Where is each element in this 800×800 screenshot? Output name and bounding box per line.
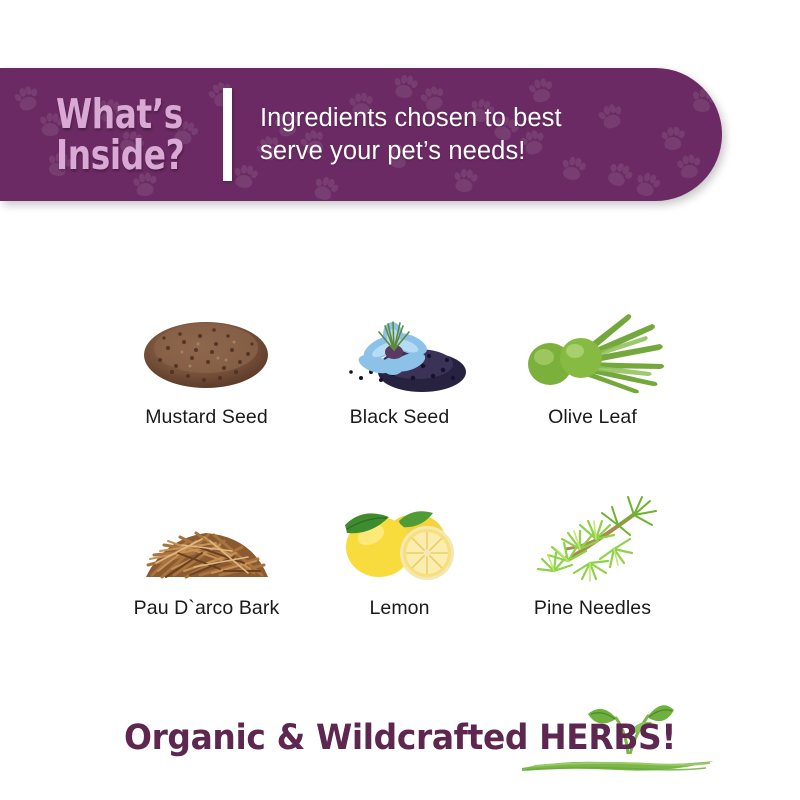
ingredient-cell-olive-leaf: Olive Leaf [496, 300, 689, 429]
banner-headline-line-2: Inside? [56, 135, 212, 175]
banner-content: What’s Inside? Ingredients chosen to bes… [0, 68, 722, 201]
pau-darco-bark-icon [124, 491, 289, 589]
banner-subheadline-line-1: Ingredients chosen to best [260, 102, 562, 135]
ingredient-label: Lemon [369, 597, 429, 620]
black-seed-icon [317, 300, 482, 398]
ingredient-row-1: Mustard Seed [110, 300, 690, 429]
ingredient-cell-mustard-seed: Mustard Seed [110, 300, 303, 429]
footer-title: Organic & Wildcrafted HERBS! [109, 718, 692, 758]
whats-inside-banner: What’s Inside? Ingredients chosen to bes… [0, 68, 722, 201]
footer-banner: Organic & Wildcrafted HERBS! [0, 700, 800, 780]
ingredient-label: Pau D`arco Bark [134, 597, 280, 620]
banner-subheadline: Ingredients chosen to best serve your pe… [260, 102, 562, 167]
banner-subheadline-line-2: serve your pet’s needs! [260, 135, 562, 168]
mustard-seed-icon [124, 300, 289, 398]
ingredient-grid: Mustard Seed [110, 300, 690, 620]
ingredient-label: Black Seed [350, 406, 450, 429]
lemon-icon [317, 491, 482, 589]
ingredient-label: Pine Needles [534, 597, 651, 620]
ingredient-cell-lemon: Lemon [303, 491, 496, 620]
olive-leaf-icon [510, 300, 675, 398]
ingredient-cell-pau-darco-bark: Pau D`arco Bark [110, 491, 303, 620]
banner-divider-rule [223, 88, 232, 181]
ingredient-label: Mustard Seed [145, 406, 268, 429]
ingredient-row-2: Pau D`arco Bark [110, 491, 690, 620]
brush-stroke-underline [520, 757, 716, 774]
banner-headline-line-1: What’s [56, 94, 212, 134]
ingredient-cell-black-seed: Black Seed [303, 300, 496, 429]
pine-needles-icon [510, 491, 675, 589]
ingredient-label: Olive Leaf [548, 406, 637, 429]
banner-headline: What’s Inside? [56, 94, 212, 174]
ingredient-cell-pine-needles: Pine Needles [496, 491, 689, 620]
